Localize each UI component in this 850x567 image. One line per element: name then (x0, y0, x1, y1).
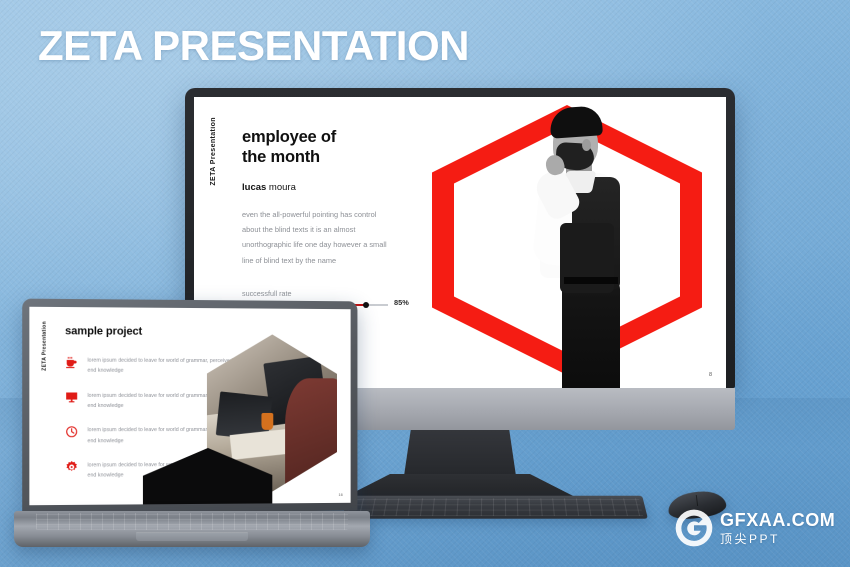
hexagon-artwork (424, 97, 726, 388)
laptop-screen[interactable]: ZETA Presentation sample project lorem i… (29, 307, 350, 505)
laptop-lid: ZETA Presentation sample project lorem i… (22, 299, 357, 514)
watermark: GFXAA.COM 顶尖PPT (672, 506, 835, 550)
coffee-cup-icon (65, 356, 78, 369)
g-letter-logo-icon (672, 506, 716, 550)
slide-body-text: even the all-powerful pointing has contr… (242, 207, 392, 268)
laptop-base (14, 511, 370, 547)
clock-icon (65, 425, 78, 438)
photo-hair (549, 105, 603, 139)
photo-ear (582, 139, 591, 151)
laptop-trackpad[interactable] (136, 532, 248, 541)
success-rate-value: 85% (394, 298, 409, 307)
slide-vertical-brand-label: ZETA Presentation (210, 117, 217, 186)
slide-subtitle: lucas moura (242, 182, 296, 193)
businessman-photo (520, 103, 640, 388)
laptop-keyboard[interactable] (36, 513, 348, 530)
gear-icon (65, 460, 78, 473)
photo-belt (564, 277, 618, 284)
subtitle-bold-part: lucas (242, 182, 266, 193)
watermark-text: GFXAA.COM 顶尖PPT (720, 511, 835, 545)
photo-trousers (562, 279, 620, 388)
slide-sample-project: ZETA Presentation sample project lorem i… (29, 307, 350, 505)
mouse-seam (696, 495, 698, 506)
laptop: ZETA Presentation sample project lorem i… (14, 300, 370, 547)
watermark-subtitle: 顶尖PPT (720, 533, 835, 545)
slide-title: employee of the month (242, 127, 336, 167)
keyboard[interactable] (342, 496, 648, 519)
slide-title: sample project (65, 325, 142, 338)
scene-background: ZETA PRESENTATION ZETA Presentation empl… (0, 0, 850, 567)
monitor-stand-neck (404, 430, 516, 476)
photo-person (285, 378, 337, 491)
page-title: ZETA PRESENTATION (38, 22, 469, 70)
subtitle-rest-part: moura (266, 182, 296, 193)
slide-page-number: 16 (338, 492, 342, 497)
slide-vertical-brand-label: ZETA Presentation (42, 321, 48, 371)
desktop-monitor-icon (65, 391, 78, 404)
watermark-domain: GFXAA.COM (720, 511, 835, 529)
photo-cup (262, 413, 274, 430)
success-rate-label: successfull rate (242, 289, 292, 298)
keyboard-keys (347, 498, 643, 516)
